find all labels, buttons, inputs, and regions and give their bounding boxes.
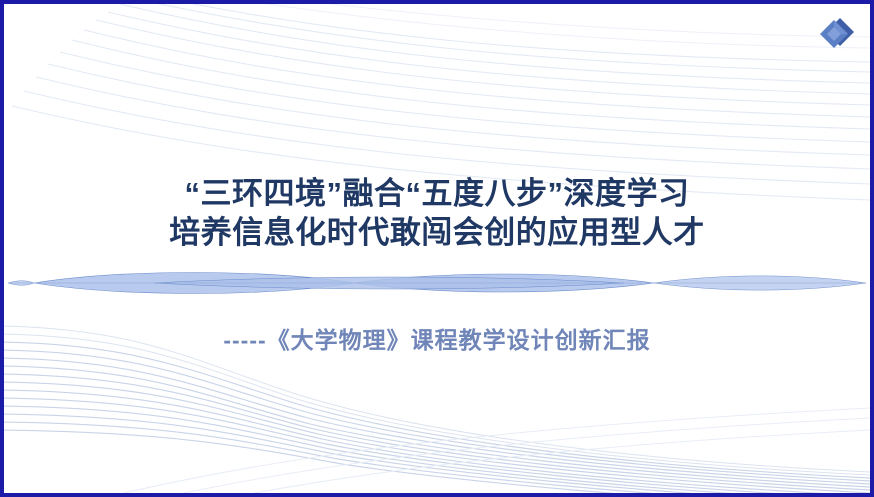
page-title-line-1: “三环四境”融合“五度八步”深度学习: [4, 174, 870, 213]
diamond-logo: [814, 12, 858, 56]
title-slide: “三环四境”融合“五度八步”深度学习 培养信息化时代敢闯会创的应用型人才 ---…: [0, 0, 874, 497]
page-title-line-2: 培养信息化时代敢闯会创的应用型人才: [4, 213, 870, 252]
page-subtitle: -----《大学物理》课程教学设计创新汇报: [4, 324, 870, 356]
title-block: “三环四境”融合“五度八步”深度学习 培养信息化时代敢闯会创的应用型人才: [4, 174, 870, 252]
